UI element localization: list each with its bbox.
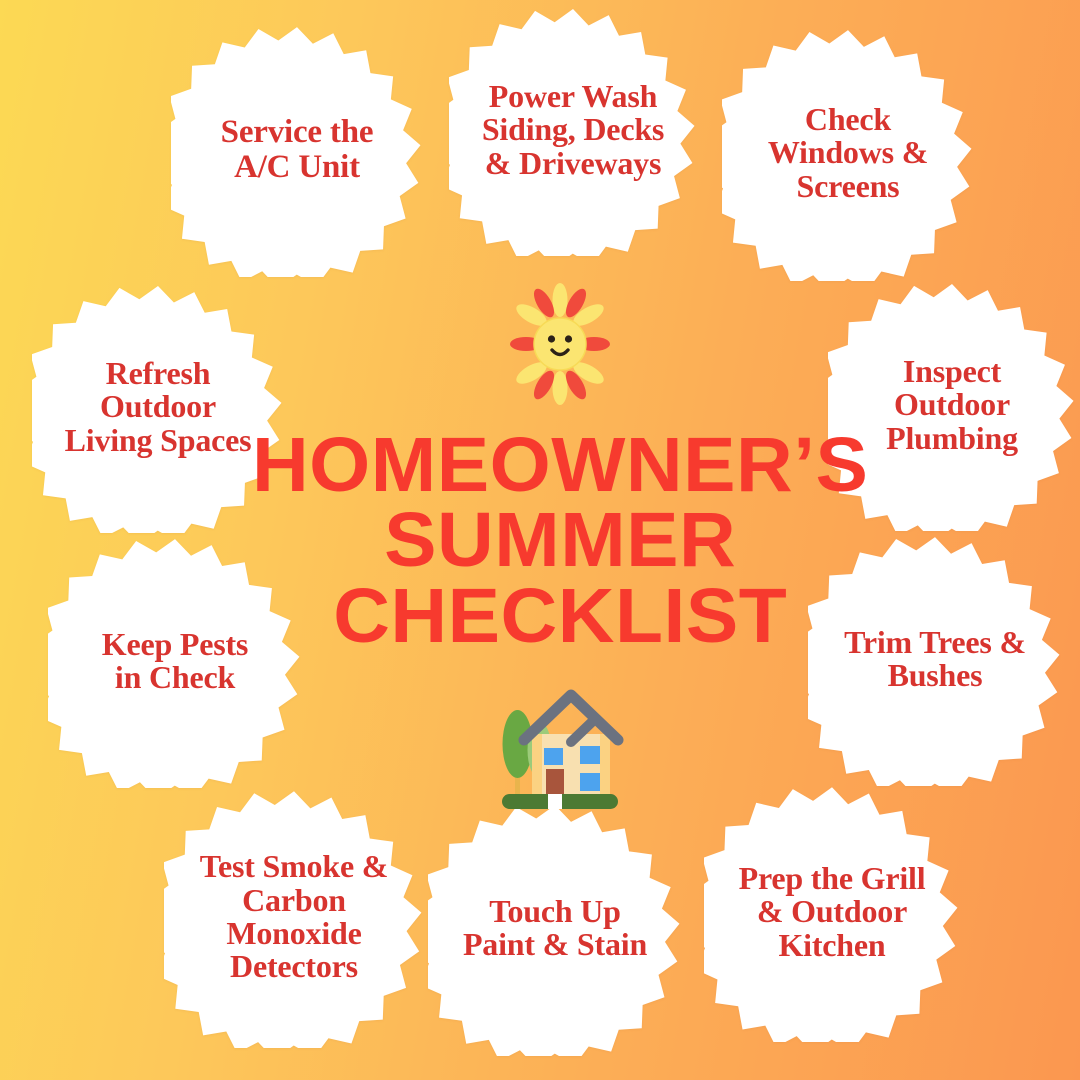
page-title: HOMEOWNER’S SUMMER CHECKLIST [252,428,868,654]
checklist-badge-prep-grill[interactable]: Prep the Grill & Outdoor Kitchen [704,782,960,1042]
badge-label: Trim Trees & Bushes [838,626,1032,693]
infographic-canvas: Service the A/C Unit Power Wash Siding, … [0,0,1080,1080]
checklist-badge-service-ac[interactable]: Service the A/C Unit [171,22,423,277]
checklist-badge-power-wash[interactable]: Power Wash Siding, Decks & Driveways [449,4,697,256]
checklist-badge-check-windows[interactable]: Check Windows & Screens [722,25,974,281]
badge-label: Keep Pests in Check [96,628,254,695]
badge-label: Inspect Outdoor Plumbing [880,355,1024,455]
checklist-badge-refresh-outdoor[interactable]: Refresh Outdoor Living Spaces [32,281,284,533]
badge-label: Refresh Outdoor Living Spaces [59,357,258,457]
badge-label: Test Smoke & Carbon Monoxide Detectors [194,850,394,983]
checklist-badge-test-detectors[interactable]: Test Smoke & Carbon Monoxide Detectors [164,786,424,1048]
badge-label: Prep the Grill & Outdoor Kitchen [733,862,932,962]
badge-label: Check Windows & Screens [762,103,934,203]
center-content: HOMEOWNER’S SUMMER CHECKLIST [280,282,840,820]
house-icon [484,680,636,820]
badge-label: Service the A/C Unit [215,115,380,184]
badge-label: Power Wash Siding, Decks & Driveways [476,80,670,180]
sun-icon [494,282,626,406]
badge-label: Touch Up Paint & Stain [457,895,653,962]
checklist-badge-touch-up-paint[interactable]: Touch Up Paint & Stain [428,800,682,1056]
